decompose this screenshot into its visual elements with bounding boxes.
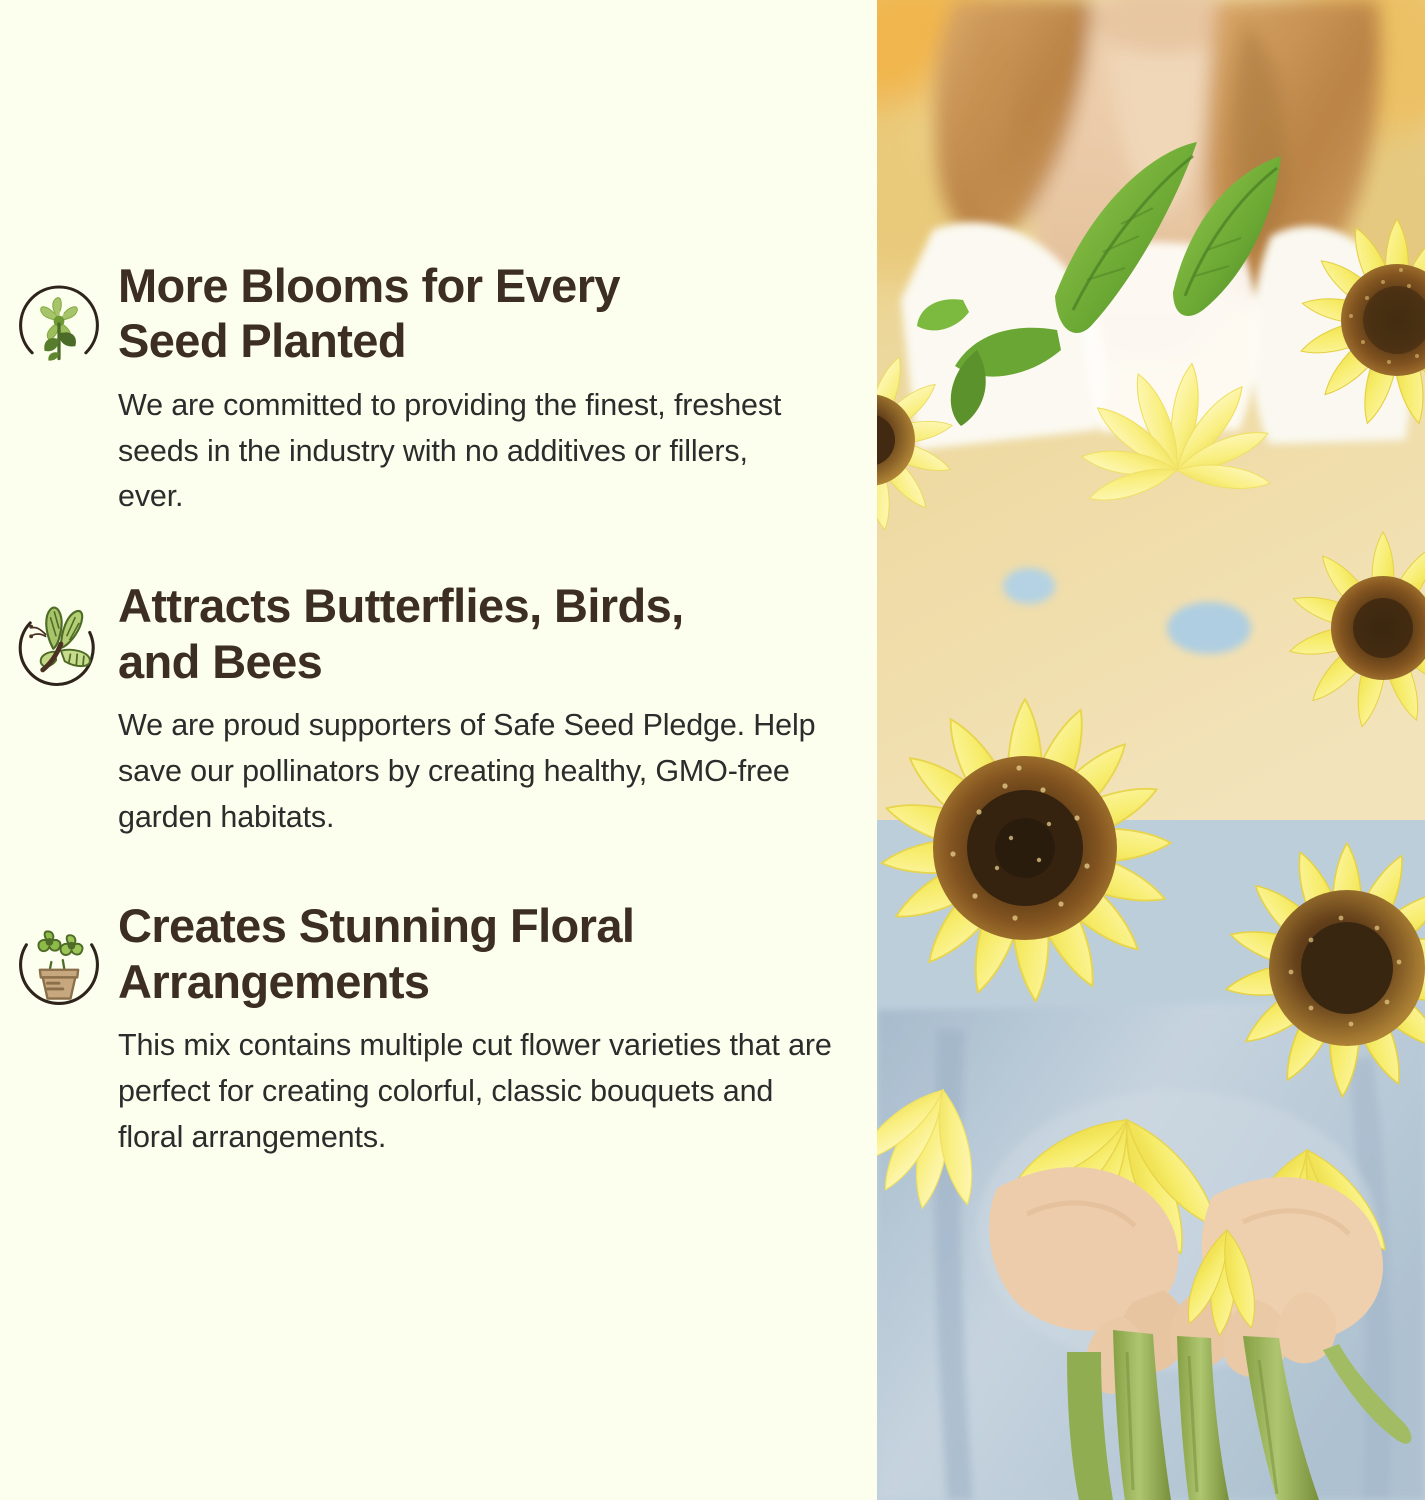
- woman-holding-sunflower-bouquet-photo: [877, 0, 1425, 1500]
- flower-sprout-icon: [11, 276, 107, 372]
- butterfly-icon: [11, 596, 107, 692]
- feature-icon-wrap: [0, 258, 118, 372]
- feature-body: We are committed to providing the finest…: [118, 383, 818, 520]
- feature-item-more-blooms: More Blooms for Every Seed Planted We ar…: [0, 258, 877, 578]
- feature-body: We are proud supporters of Safe Seed Ple…: [118, 703, 830, 840]
- features-panel: More Blooms for Every Seed Planted We ar…: [0, 0, 877, 1500]
- feature-body: This mix contains multiple cut flower va…: [118, 1023, 838, 1160]
- feature-icon-wrap: [0, 578, 118, 692]
- feature-text: Creates Stunning Floral Arrangements Thi…: [118, 898, 877, 1160]
- feature-title: Creates Stunning Floral Arrangements: [118, 898, 847, 1009]
- feature-text: More Blooms for Every Seed Planted We ar…: [118, 258, 877, 520]
- potted-plant-icon: [11, 916, 107, 1012]
- feature-item-floral-arrangements: Creates Stunning Floral Arrangements Thi…: [0, 898, 877, 1218]
- feature-list: More Blooms for Every Seed Planted We ar…: [0, 258, 877, 1218]
- feature-item-attracts-pollinators: Attracts Butterflies, Birds, and Bees We…: [0, 578, 877, 898]
- photo-panel: [877, 0, 1425, 1500]
- feature-title: Attracts Butterflies, Birds, and Bees: [118, 578, 738, 689]
- product-feature-page: More Blooms for Every Seed Planted We ar…: [0, 0, 1425, 1500]
- feature-title: More Blooms for Every Seed Planted: [118, 258, 718, 369]
- feature-icon-wrap: [0, 898, 118, 1012]
- feature-text: Attracts Butterflies, Birds, and Bees We…: [118, 578, 877, 840]
